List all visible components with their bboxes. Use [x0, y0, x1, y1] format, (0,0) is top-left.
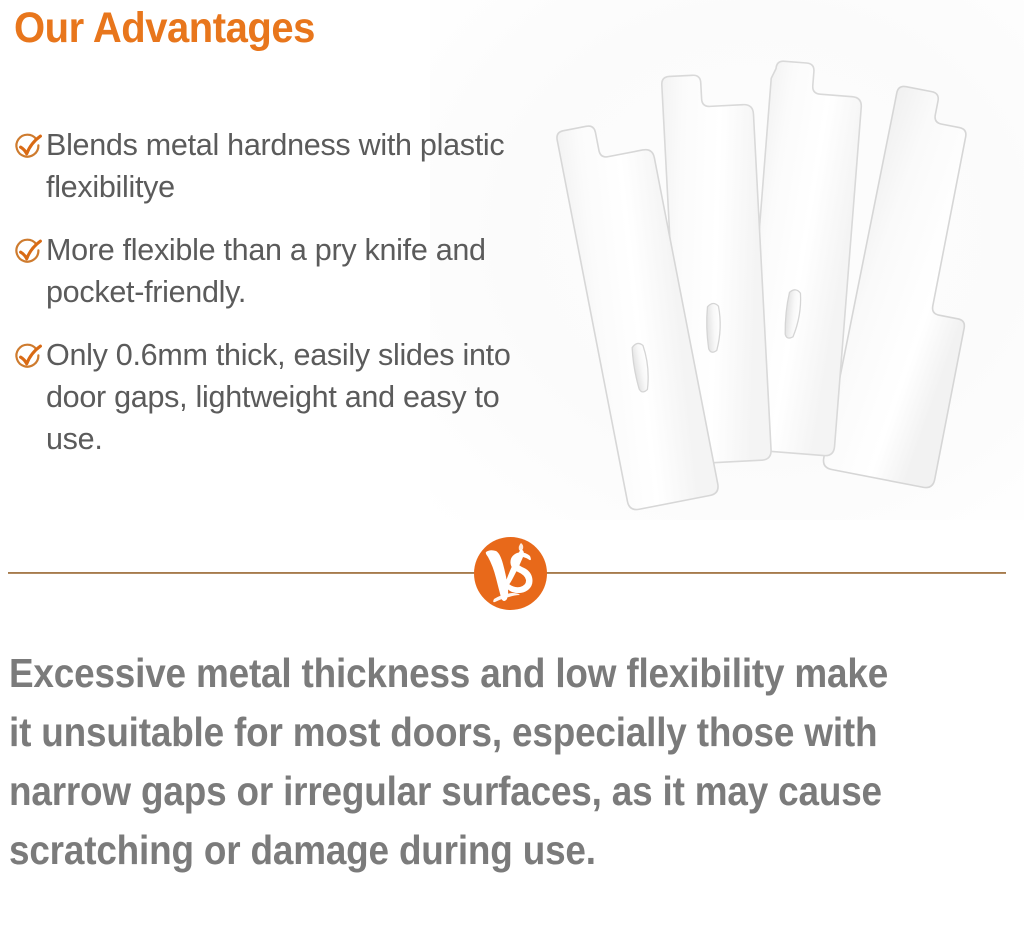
list-item-label: Only 0.6mm thick, easily slides into doo…: [46, 334, 525, 460]
list-item: Blends metal hardness with plastic flexi…: [12, 124, 532, 208]
disadvantage-paragraph: Excessive metal thickness and low flexib…: [9, 644, 920, 880]
advantages-list: Blends metal hardness with plastic flexi…: [12, 124, 532, 460]
list-item: Only 0.6mm thick, easily slides into doo…: [12, 334, 532, 460]
list-item: More flexible than a pry knife and pocke…: [12, 229, 532, 313]
check-circle-icon: [12, 341, 44, 374]
check-circle-icon: [12, 131, 44, 164]
product-card-3: [742, 60, 864, 456]
vs-badge: [474, 537, 547, 610]
section-divider: [0, 536, 1024, 612]
list-item-label: More flexible than a pry knife and pocke…: [46, 229, 525, 313]
product-card-2: [661, 72, 771, 464]
product-image-white-plastic-door-opener-cards: [460, 22, 1024, 512]
product-card-4: [822, 85, 1007, 489]
page-title: Our Advantages: [14, 4, 315, 53]
list-item-label: Blends metal hardness with plastic flexi…: [46, 124, 525, 208]
product-card-1: [556, 115, 720, 511]
check-circle-icon: [12, 236, 44, 269]
